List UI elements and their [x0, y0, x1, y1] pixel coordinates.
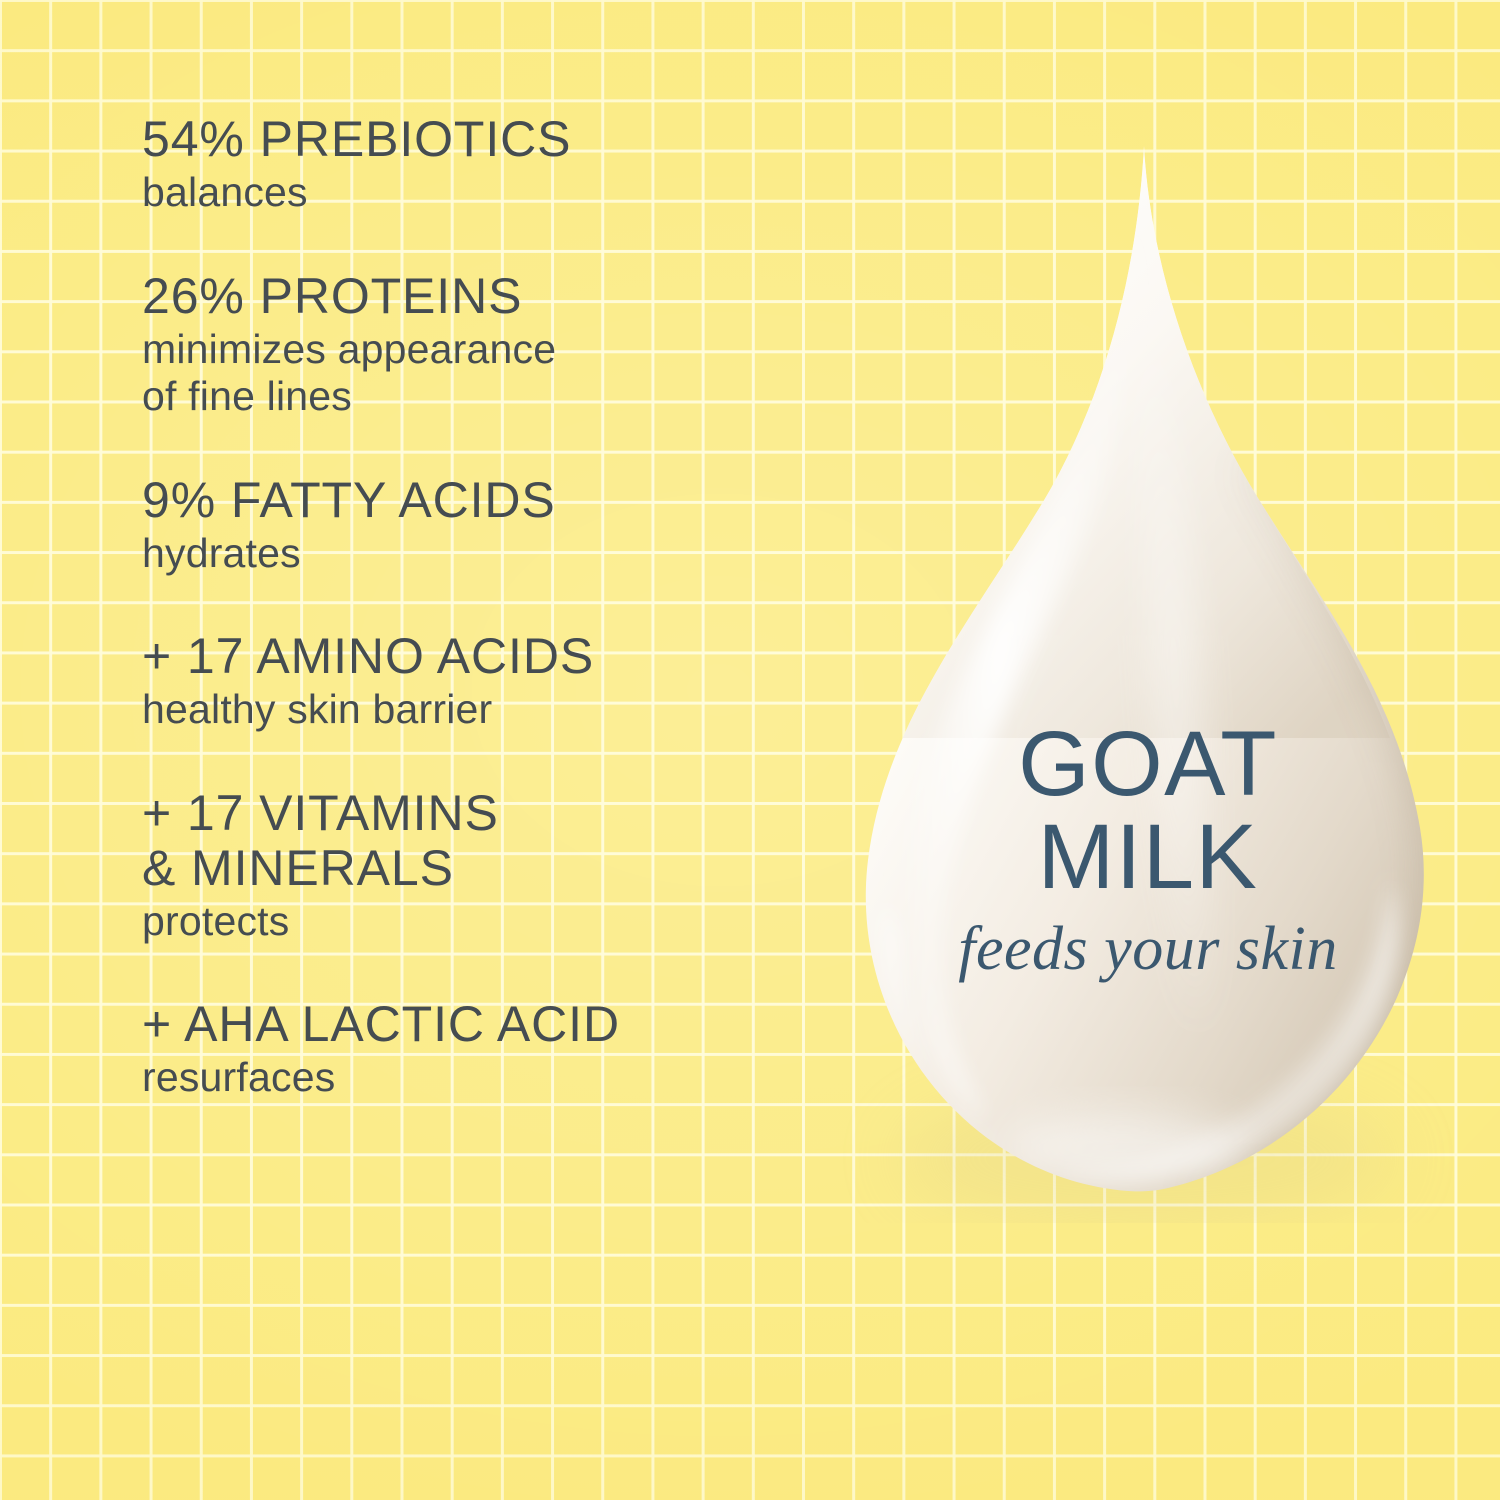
ingredient-item-vitamins-minerals: + 17 VITAMINS & MINERALS protects — [142, 786, 842, 946]
ingredient-item-aha-lactic-acid: + AHA LACTIC ACID resurfaces — [142, 997, 842, 1102]
ingredient-headline: + 17 VITAMINS & MINERALS — [142, 786, 842, 896]
ingredient-headline: + AHA LACTIC ACID — [142, 997, 842, 1052]
ingredient-item-fatty-acids: 9% FATTY ACIDS hydrates — [142, 473, 842, 578]
ingredient-item-proteins: 26% PROTEINS minimizes appearance of fin… — [142, 269, 842, 421]
ingredient-headline: 9% FATTY ACIDS — [142, 473, 842, 528]
ingredient-benefit: resurfaces — [142, 1054, 842, 1102]
ingredient-headline: + 17 AMINO ACIDS — [142, 629, 842, 684]
ingredient-benefit: minimizes appearance of fine lines — [142, 326, 842, 421]
ingredient-list: 54% PREBIOTICS balances 26% PROTEINS min… — [142, 112, 842, 1102]
ingredient-item-prebiotics: 54% PREBIOTICS balances — [142, 112, 842, 217]
ingredient-benefit: healthy skin barrier — [142, 686, 842, 734]
infographic-canvas: 54% PREBIOTICS balances 26% PROTEINS min… — [0, 0, 1500, 1500]
ingredient-headline: 54% PREBIOTICS — [142, 112, 842, 167]
milk-droplet-illustration — [838, 138, 1458, 1223]
ingredient-headline: 26% PROTEINS — [142, 269, 842, 324]
ingredient-benefit: hydrates — [142, 530, 842, 578]
milk-droplet-icon — [838, 138, 1458, 1223]
ingredient-benefit: balances — [142, 169, 842, 217]
ingredient-benefit: protects — [142, 898, 842, 946]
ingredient-item-amino-acids: + 17 AMINO ACIDS healthy skin barrier — [142, 629, 842, 734]
